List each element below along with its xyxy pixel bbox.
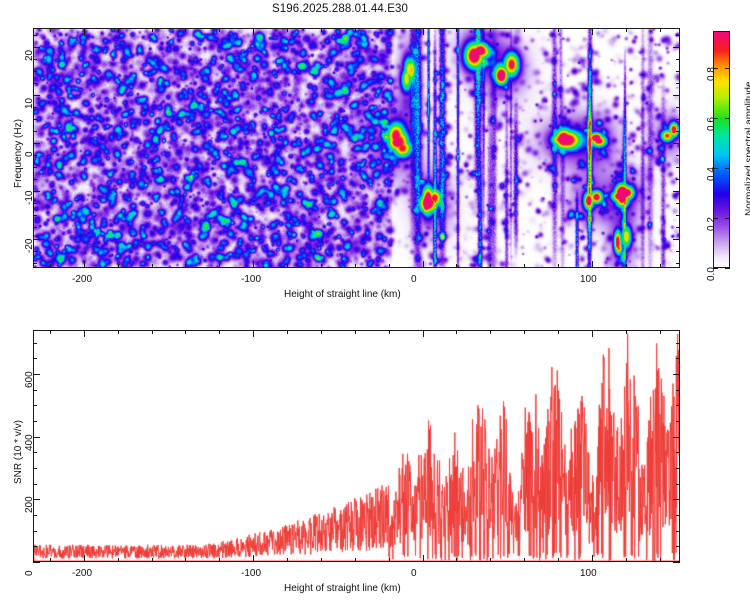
axis-tick — [676, 227, 680, 228]
axis-tick-label: 10 — [24, 98, 35, 109]
axis-tick — [33, 71, 37, 72]
axis-tick — [50, 330, 51, 334]
axis-tick — [118, 330, 119, 334]
colorbar-tick-label: 0.6 — [706, 117, 717, 131]
axis-tick — [389, 28, 390, 32]
axis-tick — [592, 28, 593, 35]
axis-tick — [33, 390, 37, 391]
axis-tick — [33, 167, 37, 168]
axis-tick — [423, 330, 424, 337]
axis-tick — [321, 330, 322, 334]
axis-tick — [660, 330, 661, 334]
axis-tick — [219, 558, 220, 562]
axis-tick — [118, 558, 119, 562]
axis-tick — [50, 28, 51, 32]
axis-tick — [676, 83, 680, 84]
axis-tick — [592, 261, 593, 268]
axis-tick — [676, 531, 680, 532]
spectrogram-panel — [33, 28, 680, 268]
axis-tick — [490, 28, 491, 32]
spectrogram-xlabel: Height of straight line (km) — [284, 289, 401, 300]
axis-tick — [185, 28, 186, 32]
axis-tick — [673, 437, 680, 438]
axis-tick — [673, 143, 680, 144]
axis-tick — [676, 71, 680, 72]
axis-tick-label: -100 — [241, 568, 261, 579]
colorbar-tick-label: 0.4 — [706, 167, 717, 181]
axis-tick — [389, 264, 390, 268]
axis-tick — [673, 499, 680, 500]
axis-tick — [321, 558, 322, 562]
axis-tick — [673, 191, 680, 192]
axis-tick — [389, 558, 390, 562]
axis-tick-label: 100 — [580, 274, 597, 285]
axis-tick — [152, 28, 153, 32]
axis-tick — [490, 264, 491, 268]
axis-tick-label: 600 — [24, 371, 35, 388]
axis-tick — [626, 28, 627, 32]
snr-panel — [33, 330, 680, 562]
axis-tick — [219, 264, 220, 268]
axis-tick — [33, 515, 37, 516]
axis-tick — [626, 558, 627, 562]
colorbar-tick — [725, 268, 730, 269]
axis-tick — [152, 558, 153, 562]
axis-tick — [287, 28, 288, 32]
axis-tick-label: 20 — [24, 50, 35, 61]
axis-tick — [676, 251, 680, 252]
axis-tick — [456, 558, 457, 562]
axis-tick — [456, 264, 457, 268]
axis-tick — [253, 261, 254, 268]
axis-tick — [33, 143, 40, 144]
axis-tick — [33, 263, 37, 264]
axis-tick — [33, 215, 37, 216]
axis-tick — [287, 558, 288, 562]
axis-tick — [84, 28, 85, 35]
axis-tick — [423, 555, 424, 562]
axis-tick — [673, 95, 680, 96]
axis-tick — [558, 330, 559, 334]
axis-tick — [33, 343, 37, 344]
axis-tick — [84, 330, 85, 337]
axis-tick — [33, 83, 37, 84]
axis-tick — [185, 264, 186, 268]
axis-tick — [33, 95, 40, 96]
axis-tick — [33, 421, 37, 422]
spectrogram-ylabel: Frequency (Hz) — [13, 119, 24, 188]
colorbar-label: Normalized spectral amplitude — [744, 81, 750, 216]
axis-tick — [676, 155, 680, 156]
axis-tick — [660, 264, 661, 268]
axis-tick — [676, 452, 680, 453]
axis-tick — [676, 468, 680, 469]
colorbar-tick — [725, 118, 730, 119]
axis-tick — [673, 374, 680, 375]
colorbar-tick-label: 0.8 — [706, 67, 717, 81]
axis-tick — [33, 484, 37, 485]
axis-tick — [253, 555, 254, 562]
axis-tick — [673, 47, 680, 48]
axis-tick — [676, 179, 680, 180]
axis-tick-label: -100 — [241, 274, 261, 285]
axis-tick — [524, 28, 525, 32]
colorbar-tick — [725, 168, 730, 169]
axis-tick — [676, 119, 680, 120]
axis-tick — [33, 562, 40, 563]
colorbar-tick — [725, 68, 730, 69]
axis-tick — [33, 227, 37, 228]
axis-tick — [660, 558, 661, 562]
colorbar-tick-label: 0.2 — [706, 217, 717, 231]
axis-tick — [118, 28, 119, 32]
colorbar-tick-label: 0.0 — [706, 267, 717, 281]
axis-tick — [50, 558, 51, 562]
axis-tick — [50, 264, 51, 268]
axis-tick — [287, 330, 288, 334]
axis-tick — [219, 330, 220, 334]
axis-tick — [676, 59, 680, 60]
axis-tick — [33, 119, 37, 120]
axis-tick — [490, 558, 491, 562]
snr-xlabel: Height of straight line (km) — [284, 583, 401, 594]
axis-tick — [33, 35, 37, 36]
axis-tick-label: 100 — [580, 568, 597, 579]
axis-tick — [676, 167, 680, 168]
colorbar-tick — [725, 218, 730, 219]
axis-tick-label: -200 — [72, 274, 92, 285]
axis-tick — [33, 405, 37, 406]
axis-tick — [676, 515, 680, 516]
axis-tick — [676, 203, 680, 204]
axis-tick — [423, 28, 424, 35]
axis-tick — [660, 28, 661, 32]
axis-tick — [524, 558, 525, 562]
axis-tick — [558, 264, 559, 268]
axis-tick — [33, 531, 37, 532]
axis-tick — [676, 421, 680, 422]
axis-tick — [676, 358, 680, 359]
axis-tick — [152, 330, 153, 334]
axis-tick — [558, 28, 559, 32]
axis-tick-label: 400 — [24, 434, 35, 451]
axis-tick — [33, 47, 40, 48]
axis-tick — [219, 28, 220, 32]
axis-tick — [152, 264, 153, 268]
axis-tick — [592, 330, 593, 337]
axis-tick-label: -200 — [72, 568, 92, 579]
axis-tick — [253, 330, 254, 337]
axis-tick — [626, 330, 627, 334]
axis-tick — [676, 107, 680, 108]
axis-tick — [676, 343, 680, 344]
axis-tick — [355, 264, 356, 268]
axis-tick — [423, 261, 424, 268]
axis-tick — [676, 131, 680, 132]
axis-tick-label: -20 — [24, 239, 35, 253]
axis-tick — [676, 263, 680, 264]
axis-tick — [33, 468, 37, 469]
axis-tick — [524, 264, 525, 268]
axis-tick-label: 0 — [24, 151, 35, 157]
snr-ylabel: SNR (10 * v/v) — [13, 420, 24, 484]
axis-tick — [676, 484, 680, 485]
axis-tick — [676, 546, 680, 547]
axis-tick — [287, 264, 288, 268]
axis-tick-label: -10 — [24, 191, 35, 205]
axis-tick — [84, 555, 85, 562]
axis-tick — [33, 131, 37, 132]
axis-tick — [118, 264, 119, 268]
axis-tick — [84, 261, 85, 268]
axis-tick — [321, 264, 322, 268]
axis-tick-label: 200 — [24, 496, 35, 513]
axis-tick-label: 0 — [411, 274, 417, 285]
axis-tick — [355, 330, 356, 334]
axis-tick — [456, 28, 457, 32]
axis-tick-label: 0 — [24, 570, 35, 576]
axis-tick — [626, 264, 627, 268]
axis-tick-label: 0 — [411, 568, 417, 579]
axis-tick — [355, 28, 356, 32]
axis-tick — [524, 330, 525, 334]
page-title: S196.2025.288.01.44.E30 — [0, 3, 680, 15]
axis-tick — [33, 358, 37, 359]
axis-tick — [355, 558, 356, 562]
axis-tick — [676, 35, 680, 36]
axis-tick — [490, 330, 491, 334]
axis-tick — [456, 330, 457, 334]
axis-tick — [33, 546, 37, 547]
axis-tick — [673, 562, 680, 563]
axis-tick — [321, 28, 322, 32]
axis-tick — [389, 330, 390, 334]
axis-tick — [673, 239, 680, 240]
axis-tick — [33, 179, 37, 180]
axis-tick — [676, 390, 680, 391]
axis-tick — [676, 405, 680, 406]
axis-tick — [185, 330, 186, 334]
axis-tick — [33, 452, 37, 453]
axis-tick — [253, 28, 254, 35]
axis-tick — [185, 558, 186, 562]
axis-tick — [558, 558, 559, 562]
axis-tick — [592, 555, 593, 562]
axis-tick — [676, 215, 680, 216]
